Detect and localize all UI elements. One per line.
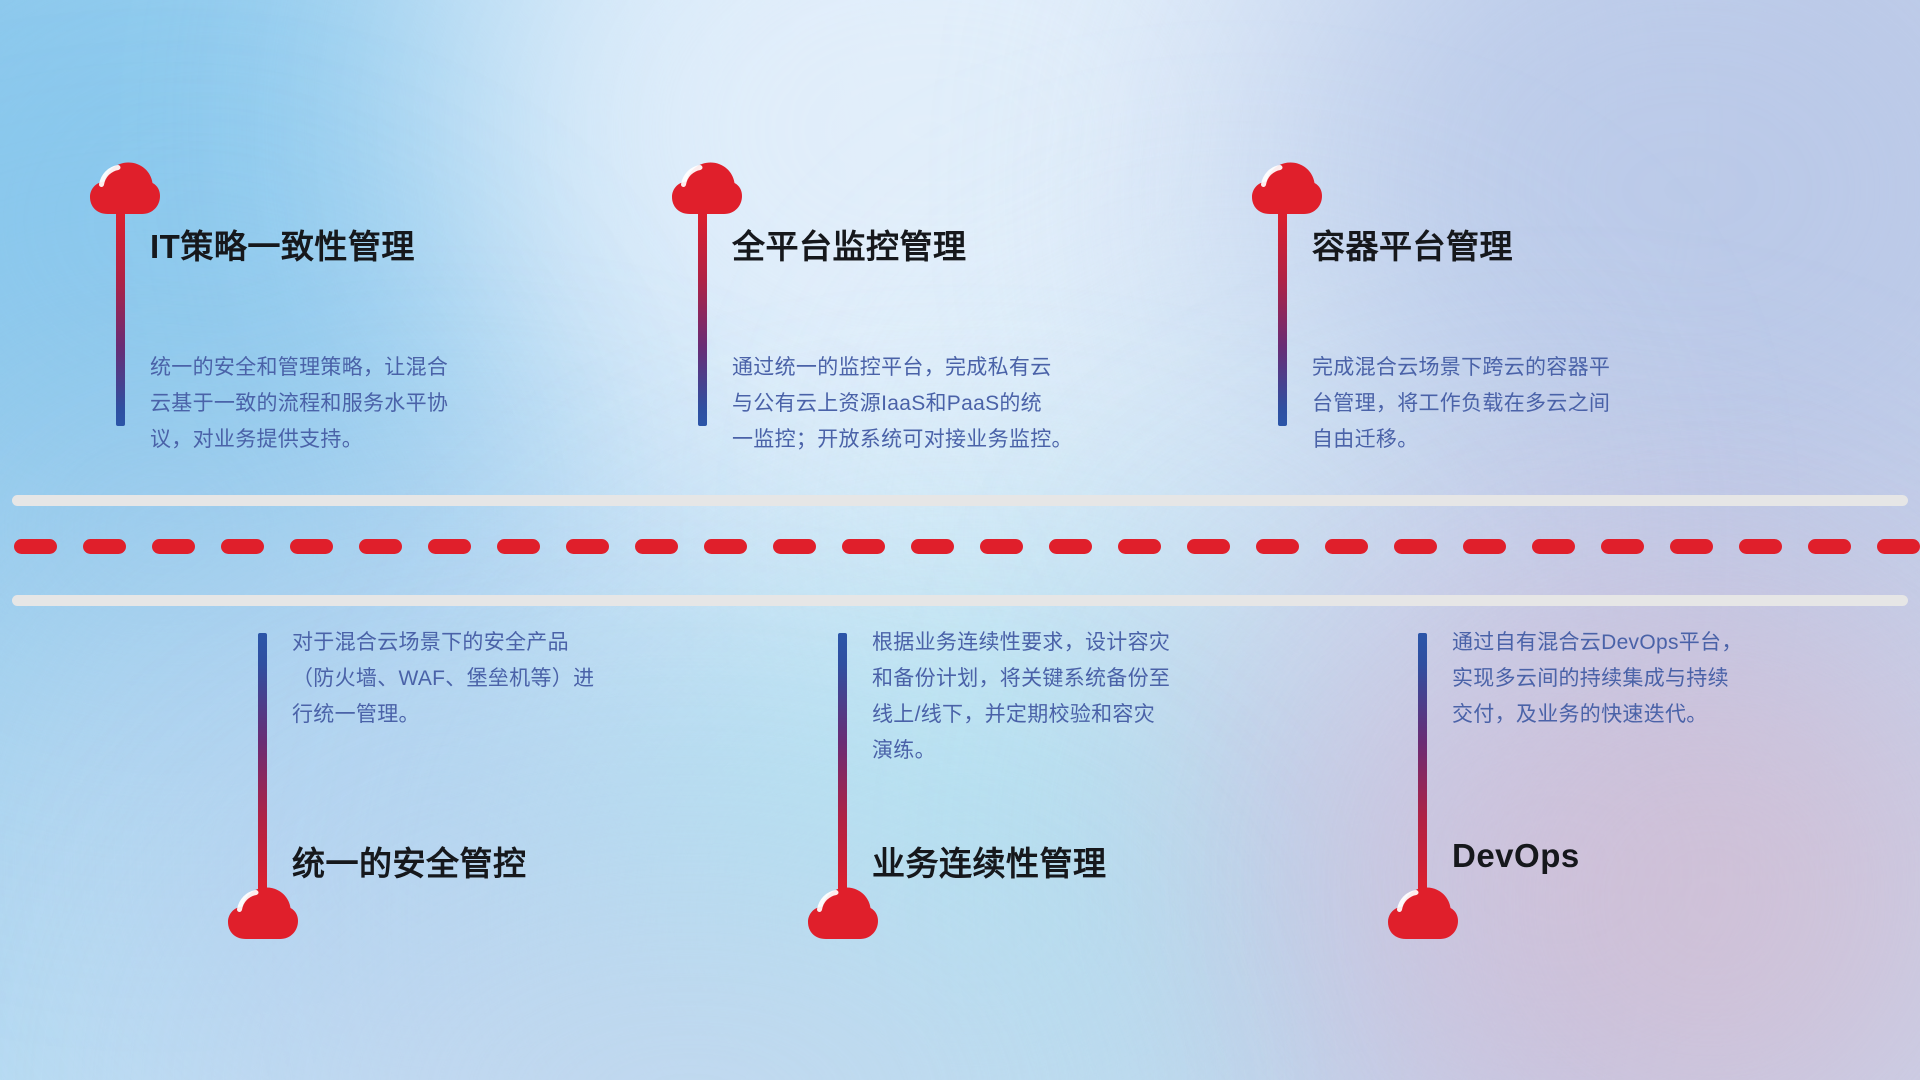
description-line: 演练。 (872, 733, 1242, 769)
node-description: 通过自有混合云DevOps平台， 实现多云间的持续集成与持续 交付，及业务的快速… (1452, 625, 1822, 733)
cloud-icon (1386, 885, 1460, 941)
divider-rail-bottom (12, 595, 1908, 606)
divider-rail-top (12, 495, 1908, 506)
cloud-icon (226, 885, 300, 941)
divider-dash (1601, 539, 1644, 554)
description-line: 云基于一致的流程和服务水平协 (150, 386, 510, 422)
divider-dash (152, 539, 195, 554)
divider-dash (1049, 539, 1092, 554)
divider-dash (911, 539, 954, 554)
cloud-icon (806, 885, 880, 941)
divider-dash (428, 539, 471, 554)
node-title: 全平台监控管理 (732, 220, 967, 268)
node-description: 统一的安全和管理策略，让混合 云基于一致的流程和服务水平协 议，对业务提供支持。 (150, 350, 510, 458)
connector-line (838, 633, 847, 893)
node-title: 统一的安全管控 (292, 837, 527, 885)
divider-dash (83, 539, 126, 554)
description-line: 交付，及业务的快速迭代。 (1452, 697, 1822, 733)
connector-line (1278, 208, 1287, 426)
divider-dash (1808, 539, 1851, 554)
divider-dash (980, 539, 1023, 554)
divider-dash (290, 539, 333, 554)
node-title: IT策略一致性管理 (150, 220, 415, 268)
cloud-icon (1250, 160, 1324, 216)
description-line: 一监控；开放系统可对接业务监控。 (732, 422, 1112, 458)
divider-dash (497, 539, 540, 554)
infographic-canvas: IT策略一致性管理 统一的安全和管理策略，让混合 云基于一致的流程和服务水平协 … (0, 0, 1920, 1080)
connector-line (698, 208, 707, 426)
cloud-icon (670, 160, 744, 216)
description-line: 通过统一的监控平台，完成私有云 (732, 350, 1112, 386)
divider-dash (1394, 539, 1437, 554)
description-line: （防火墙、WAF、堡垒机等）进 (292, 661, 662, 697)
description-line: 行统一管理。 (292, 697, 662, 733)
connector-line (258, 633, 267, 893)
divider-dash (221, 539, 264, 554)
divider-dash (635, 539, 678, 554)
description-line: 实现多云间的持续集成与持续 (1452, 661, 1822, 697)
description-line: 自由迁移。 (1312, 422, 1682, 458)
description-line: 根据业务连续性要求，设计容灾 (872, 625, 1242, 661)
description-line: 线上/线下，并定期校验和容灾 (872, 697, 1242, 733)
description-line: 和备份计划，将关键系统备份至 (872, 661, 1242, 697)
divider-dash (1670, 539, 1713, 554)
node-description: 对于混合云场景下的安全产品 （防火墙、WAF、堡垒机等）进 行统一管理。 (292, 625, 662, 733)
divider-dashed-line (14, 539, 1920, 554)
description-line: 完成混合云场景下跨云的容器平 (1312, 350, 1682, 386)
divider-dash (773, 539, 816, 554)
divider-dash (1187, 539, 1230, 554)
divider-dash (1739, 539, 1782, 554)
node-title: 容器平台管理 (1312, 220, 1513, 268)
connector-line (116, 208, 125, 426)
connector-line (1418, 633, 1427, 893)
divider-dash (1118, 539, 1161, 554)
node-title: DevOps (1452, 837, 1580, 875)
description-line: 统一的安全和管理策略，让混合 (150, 350, 510, 386)
description-line: 通过自有混合云DevOps平台， (1452, 625, 1822, 661)
description-line: 台管理，将工作负载在多云之间 (1312, 386, 1682, 422)
cloud-icon (88, 160, 162, 216)
divider-dash (704, 539, 747, 554)
node-title: 业务连续性管理 (872, 837, 1107, 885)
divider-dash (842, 539, 885, 554)
divider-dash (1532, 539, 1575, 554)
divider-dash (359, 539, 402, 554)
description-line: 与公有云上资源IaaS和PaaS的统 (732, 386, 1112, 422)
description-line: 对于混合云场景下的安全产品 (292, 625, 662, 661)
divider-dash (1463, 539, 1506, 554)
node-description: 完成混合云场景下跨云的容器平 台管理，将工作负载在多云之间 自由迁移。 (1312, 350, 1682, 458)
divider-dash (14, 539, 57, 554)
divider-dash (1325, 539, 1368, 554)
node-description: 根据业务连续性要求，设计容灾 和备份计划，将关键系统备份至 线上/线下，并定期校… (872, 625, 1242, 769)
description-line: 议，对业务提供支持。 (150, 422, 510, 458)
node-description: 通过统一的监控平台，完成私有云 与公有云上资源IaaS和PaaS的统 一监控；开… (732, 350, 1112, 458)
divider-dash (1877, 539, 1920, 554)
section-divider (0, 490, 1920, 610)
divider-dash (1256, 539, 1299, 554)
divider-dash (566, 539, 609, 554)
